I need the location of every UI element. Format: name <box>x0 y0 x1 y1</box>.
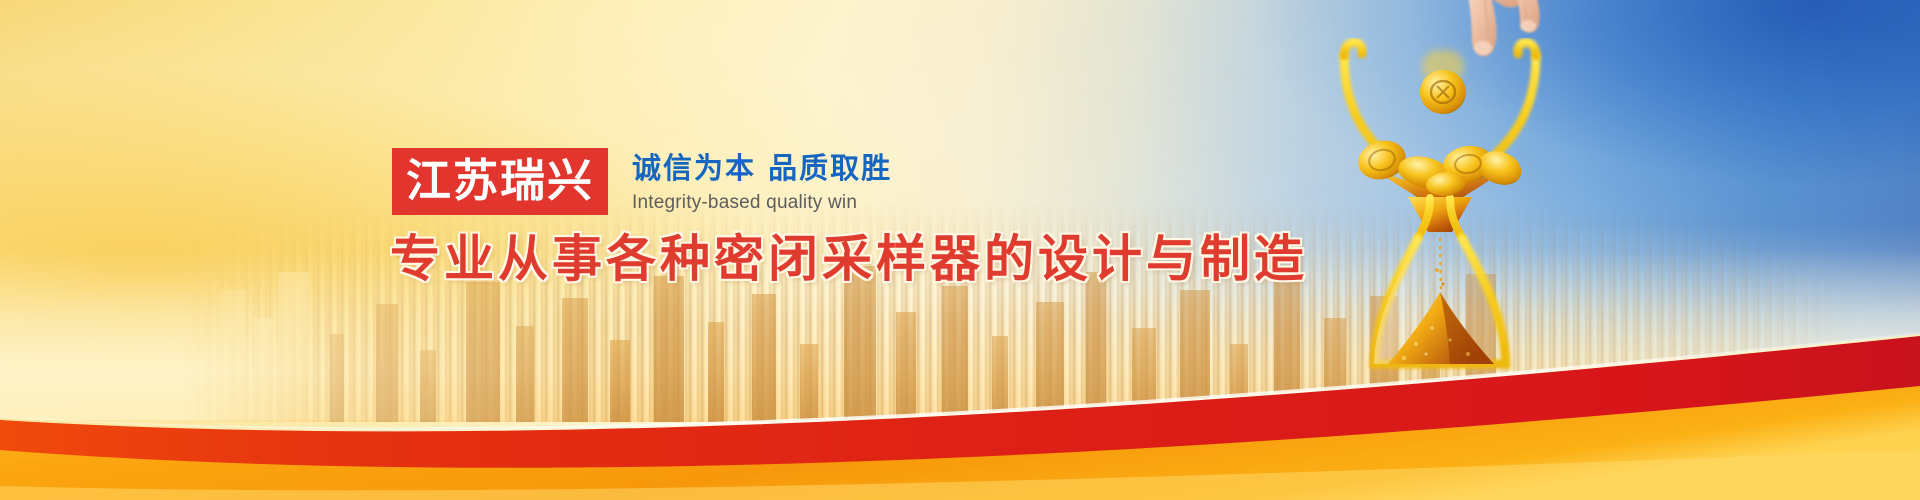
hand-icon <box>1428 0 1578 86</box>
hand-fingertip <box>1520 20 1536 32</box>
sand-grain <box>1442 283 1445 286</box>
ribbon-swoosh-icon <box>0 300 1920 500</box>
brand-badge: 江苏瑞兴 <box>392 148 608 215</box>
brand-slogan-row: 江苏瑞兴 诚信为本 品质取胜 Integrity-based quality w… <box>392 148 1152 215</box>
promo-banner: 江苏瑞兴 诚信为本 品质取胜 Integrity-based quality w… <box>0 0 1920 500</box>
hand-fingertip <box>1474 41 1492 55</box>
hourglass-neck-sand <box>1408 197 1472 232</box>
slogan-english: Integrity-based quality win <box>632 192 892 215</box>
slogan-column: 诚信为本 品质取胜 Integrity-based quality win <box>632 148 892 215</box>
hourglass-lip-left <box>1344 42 1362 56</box>
sand-grain <box>1435 268 1439 272</box>
banner-headline: 专业从事各种密闭采样器的设计与制造 <box>390 231 1152 287</box>
slogan-chinese: 诚信为本 品质取胜 <box>632 152 892 185</box>
banner-text-block: 江苏瑞兴 诚信为本 品质取胜 Integrity-based quality w… <box>392 148 1152 287</box>
